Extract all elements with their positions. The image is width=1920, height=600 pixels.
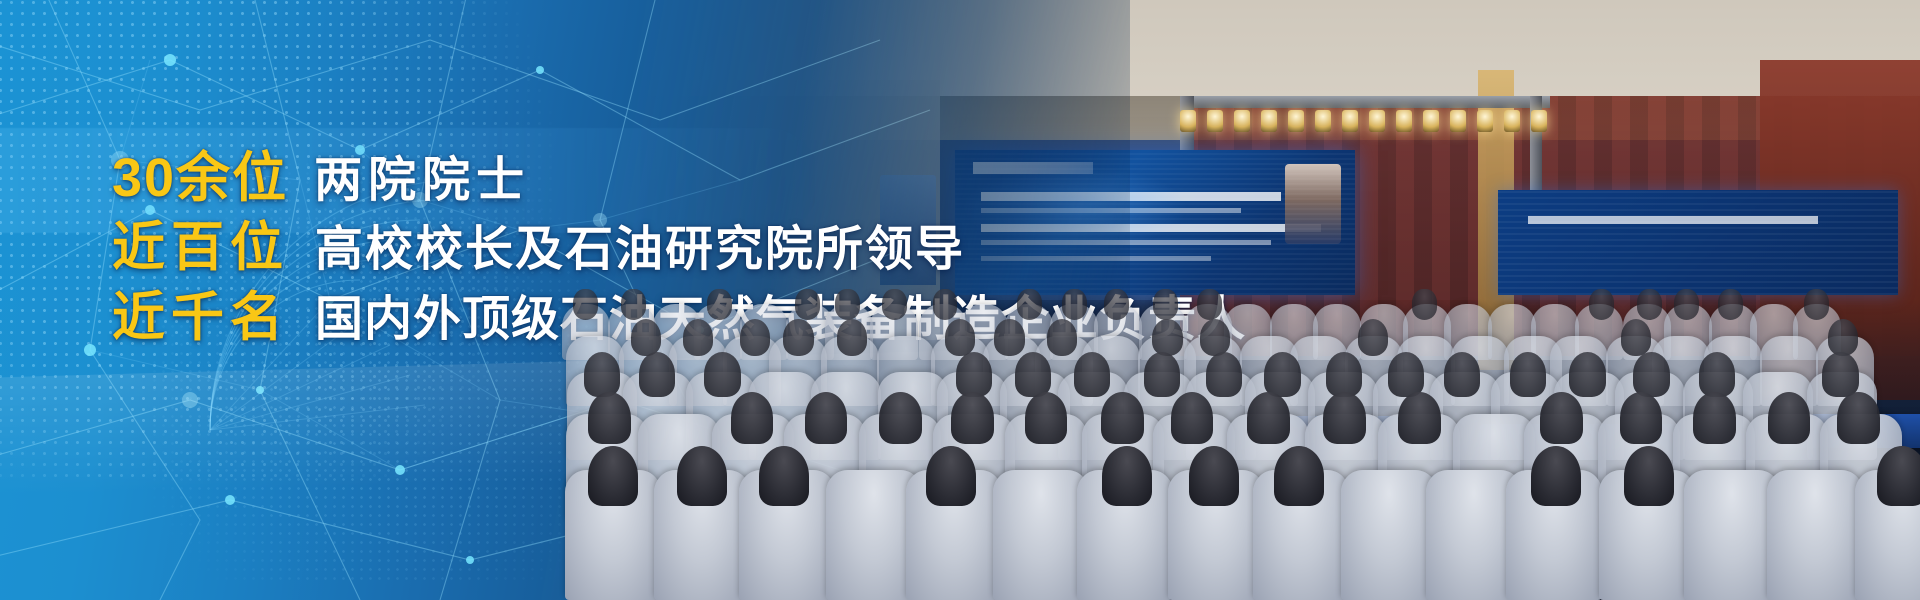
audience-person (1624, 446, 1674, 507)
audience-person (933, 289, 958, 319)
audience-person (1074, 352, 1110, 396)
spotlight (1423, 110, 1439, 132)
audience-person (1264, 352, 1300, 396)
audience-person (1326, 352, 1362, 396)
audience-person (994, 319, 1024, 356)
audience-person (1699, 352, 1735, 396)
spotlight (1315, 110, 1331, 132)
audience-person (683, 319, 713, 356)
audience-person (1017, 289, 1042, 319)
audience-person (1540, 392, 1583, 444)
audience-person (1693, 392, 1736, 444)
audience-person (1101, 392, 1144, 444)
audience-seating (600, 300, 1920, 600)
stat-count-1: 30余位 (112, 148, 288, 208)
audience-person (1804, 289, 1829, 319)
audience-person (1444, 352, 1480, 396)
audience-seat (1767, 470, 1863, 600)
audience-person (588, 392, 631, 444)
audience-person (1153, 289, 1178, 319)
stat-desc-2: 高校校长及石油研究院所领导 (315, 223, 965, 277)
audience-person (1025, 392, 1068, 444)
stat-count-3: 近千名 (112, 288, 289, 347)
audience-person (926, 446, 976, 507)
audience-person (1877, 446, 1920, 507)
audience-person (1358, 319, 1388, 356)
promo-banner: 30余位 两院院士 近百位 高校校长及石油研究院所领导 近千名 国内外顶级石油天… (0, 0, 1920, 600)
audience-person (1674, 289, 1699, 319)
spotlight (1288, 110, 1304, 132)
stat-line-1: 30余位 两院院士 (112, 148, 1412, 208)
spotlight (1261, 110, 1277, 132)
audience-person (882, 289, 907, 319)
audience-person (1569, 352, 1605, 396)
audience-person (573, 289, 598, 319)
audience-person (951, 392, 994, 444)
audience-person (1171, 392, 1214, 444)
audience-person (956, 352, 992, 396)
audience-person (1197, 289, 1222, 319)
audience-person (1621, 319, 1651, 356)
spotlight (1531, 110, 1547, 132)
audience-person (707, 289, 732, 319)
stage-spotlights (1180, 106, 1560, 146)
audience-person (1200, 319, 1230, 356)
spotlight (1234, 110, 1250, 132)
spotlight (1396, 110, 1412, 132)
audience-person (1104, 289, 1129, 319)
stat-line-2: 近百位 高校校长及石油研究院所领导 (112, 218, 1412, 277)
audience-person (1633, 352, 1669, 396)
audience-person (835, 289, 860, 319)
audience-person (1047, 319, 1077, 356)
spotlight (1504, 110, 1520, 132)
audience-person (1837, 392, 1880, 444)
audience-person (1412, 289, 1437, 319)
audience-person (1637, 289, 1662, 319)
audience-person (1247, 392, 1290, 444)
spotlight (1369, 110, 1385, 132)
audience-person (1589, 289, 1614, 319)
spotlight (1450, 110, 1466, 132)
stat-desc-1: 两院院士 (314, 154, 530, 208)
audience-person (639, 352, 675, 396)
spotlight (1477, 110, 1493, 132)
audience-person (1189, 446, 1239, 507)
audience-person (1388, 352, 1424, 396)
audience-seat (1341, 470, 1437, 600)
audience-person (677, 446, 727, 507)
audience-person (1102, 446, 1152, 507)
audience-person (795, 289, 820, 319)
audience-person (1828, 319, 1858, 356)
audience-person (1274, 446, 1324, 507)
stat-count-2: 近百位 (112, 218, 289, 277)
audience-person (740, 319, 770, 356)
audience-person (1152, 319, 1182, 356)
audience-person (588, 446, 638, 507)
audience-person (1718, 289, 1743, 319)
audience-person (1206, 352, 1242, 396)
audience-person (1768, 392, 1811, 444)
audience-person (1510, 352, 1546, 396)
audience-person (759, 446, 809, 507)
audience-person (1323, 392, 1366, 444)
audience-person (1531, 446, 1581, 507)
audience-person (731, 392, 774, 444)
spotlight (1180, 110, 1196, 132)
side-screen-text-line (1528, 216, 1818, 224)
audience-person (584, 352, 620, 396)
audience-person (704, 352, 740, 396)
audience-person (1144, 352, 1180, 396)
audience-person (1062, 289, 1087, 319)
audience-person (621, 289, 646, 319)
spotlight (1342, 110, 1358, 132)
audience-person (1620, 392, 1663, 444)
audience-seat (993, 470, 1089, 600)
audience-person (631, 319, 661, 356)
audience-person (837, 319, 867, 356)
audience-person (945, 319, 975, 356)
audience-seat (1684, 470, 1780, 600)
side-led-screen (1498, 190, 1898, 295)
audience-person (879, 392, 922, 444)
audience-person (805, 392, 848, 444)
audience-person (1015, 352, 1051, 396)
spotlight (1207, 110, 1223, 132)
audience-person (1822, 352, 1858, 396)
audience-person (783, 319, 813, 356)
audience-person (1398, 392, 1441, 444)
